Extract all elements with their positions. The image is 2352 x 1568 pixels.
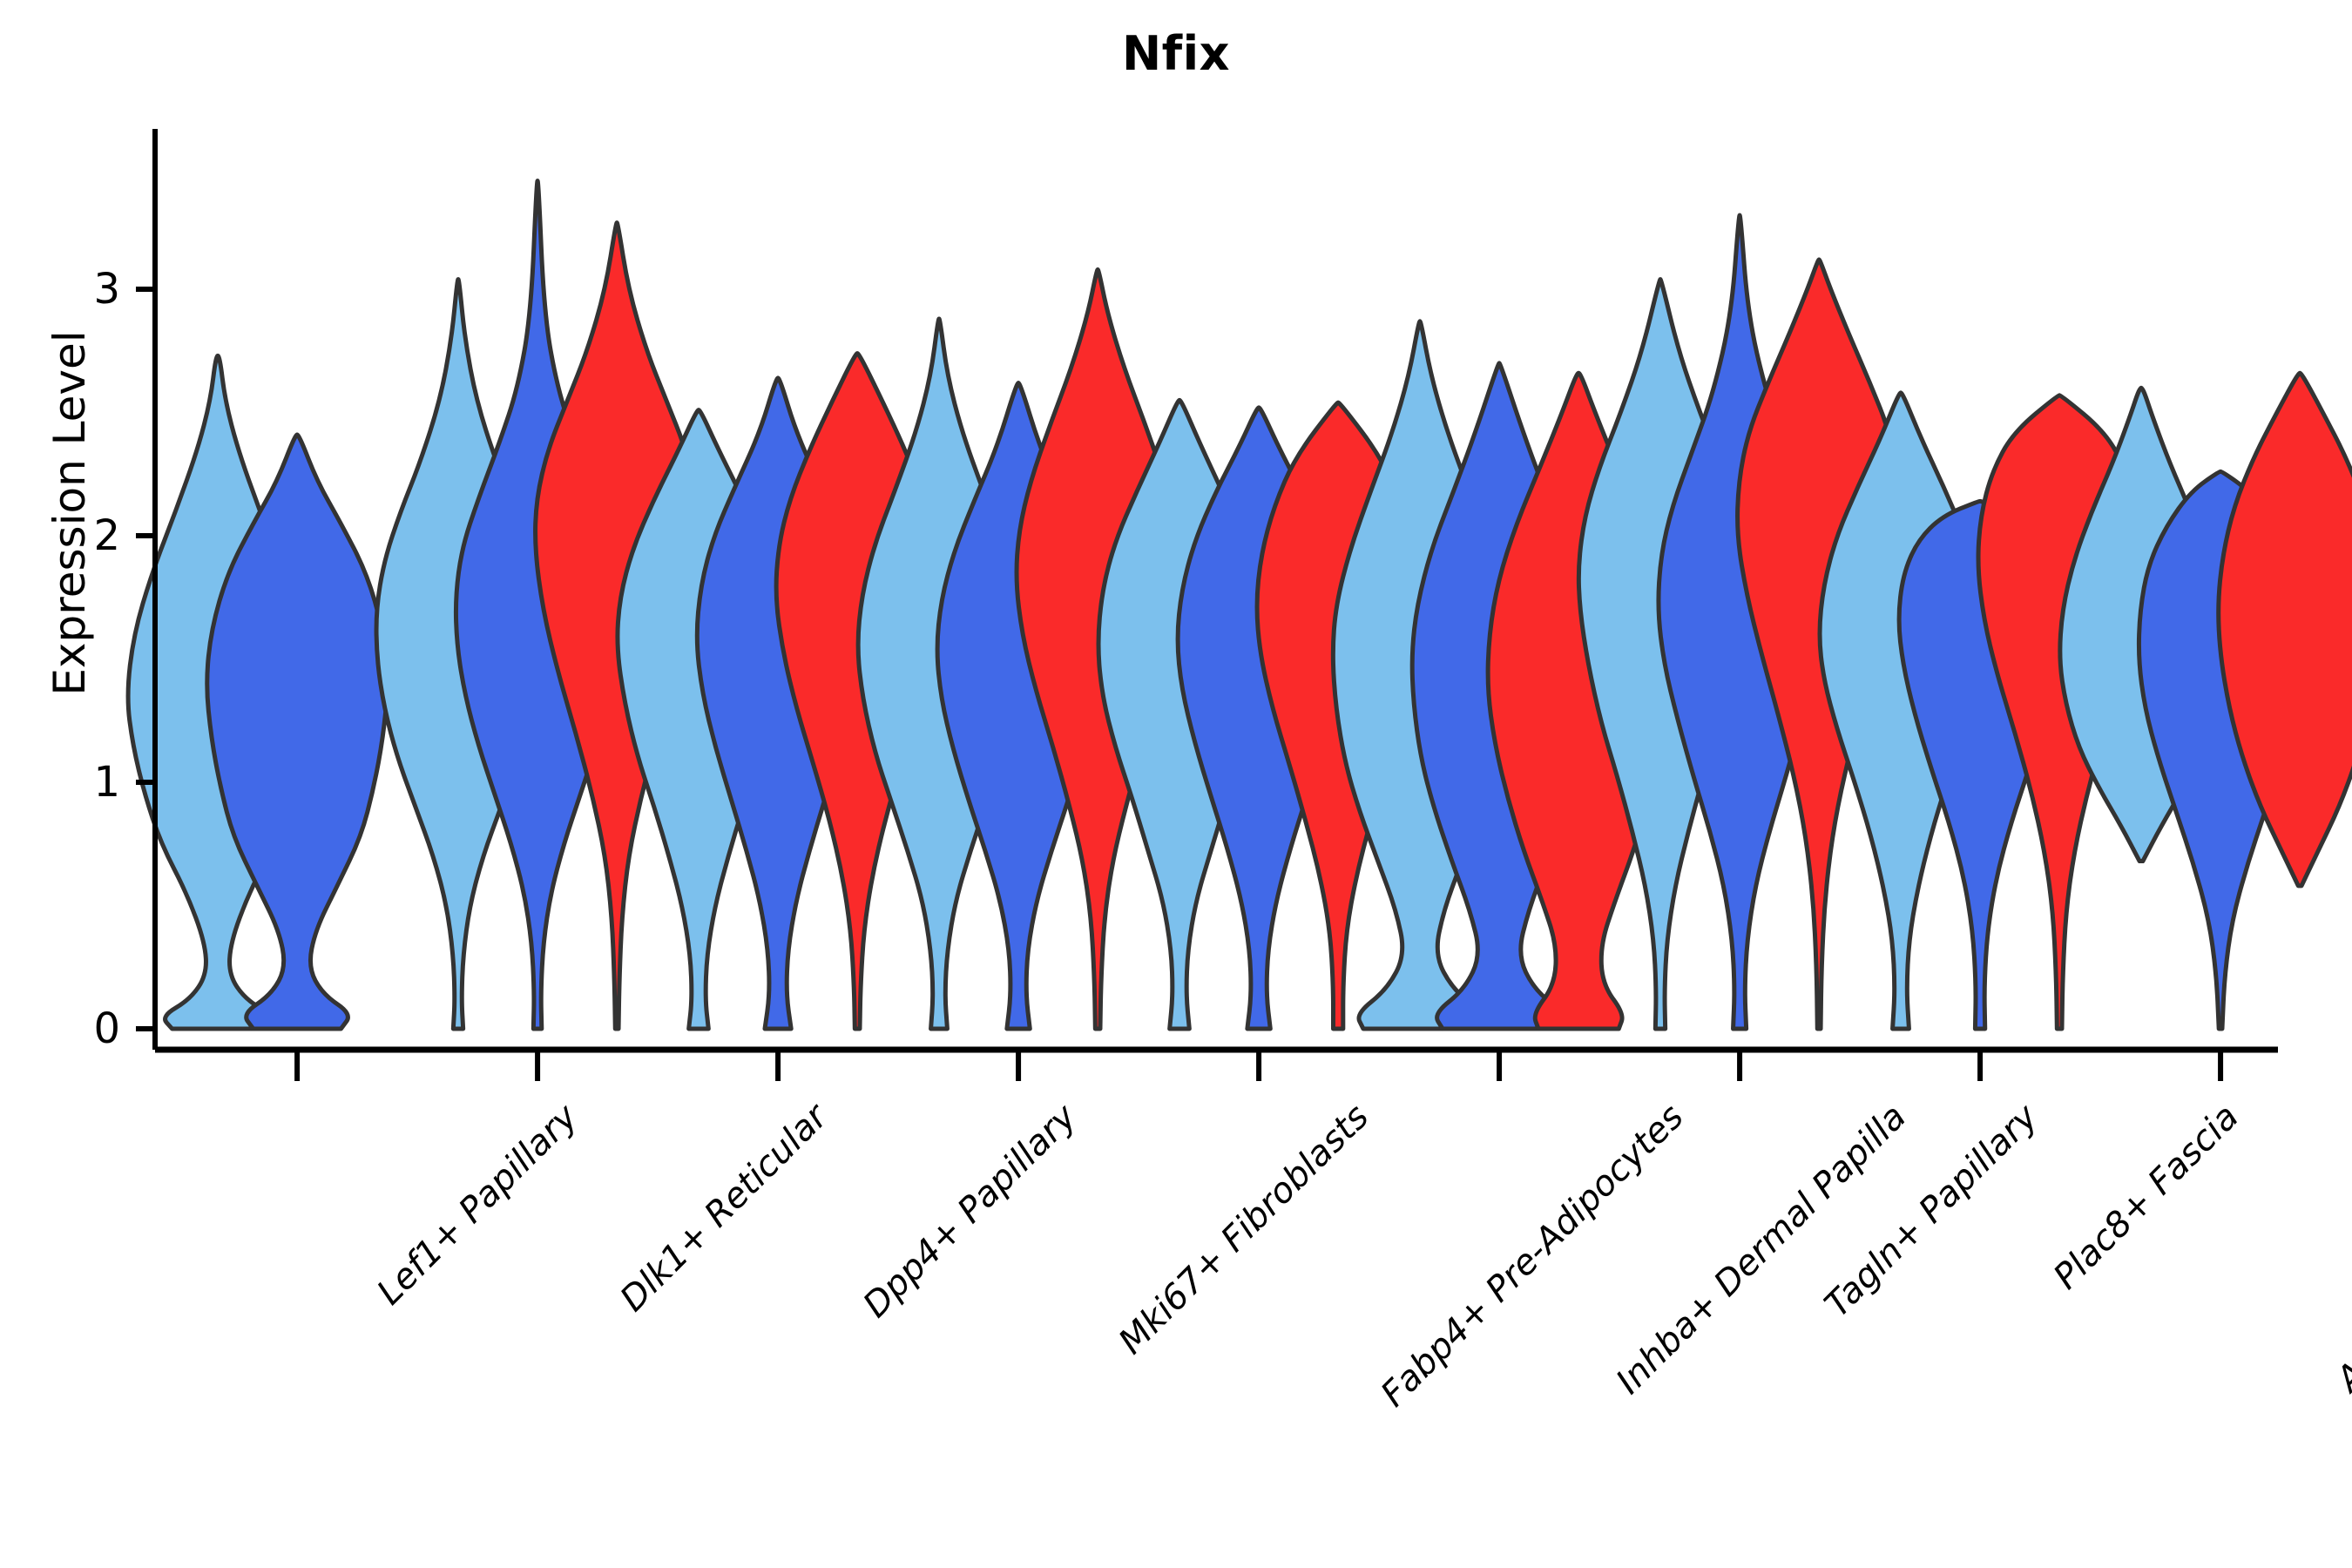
- violin-layer: [128, 180, 2352, 1029]
- y-tick-label: 2: [42, 511, 120, 560]
- y-tick-label: 3: [42, 265, 120, 314]
- y-tick-label: 0: [42, 1004, 120, 1053]
- y-tick-label: 1: [42, 758, 120, 807]
- violin-plot-figure: Nfix Expression Level 0123 Lef1+ Papilla…: [0, 0, 2352, 1568]
- plot-area: [0, 0, 2352, 1568]
